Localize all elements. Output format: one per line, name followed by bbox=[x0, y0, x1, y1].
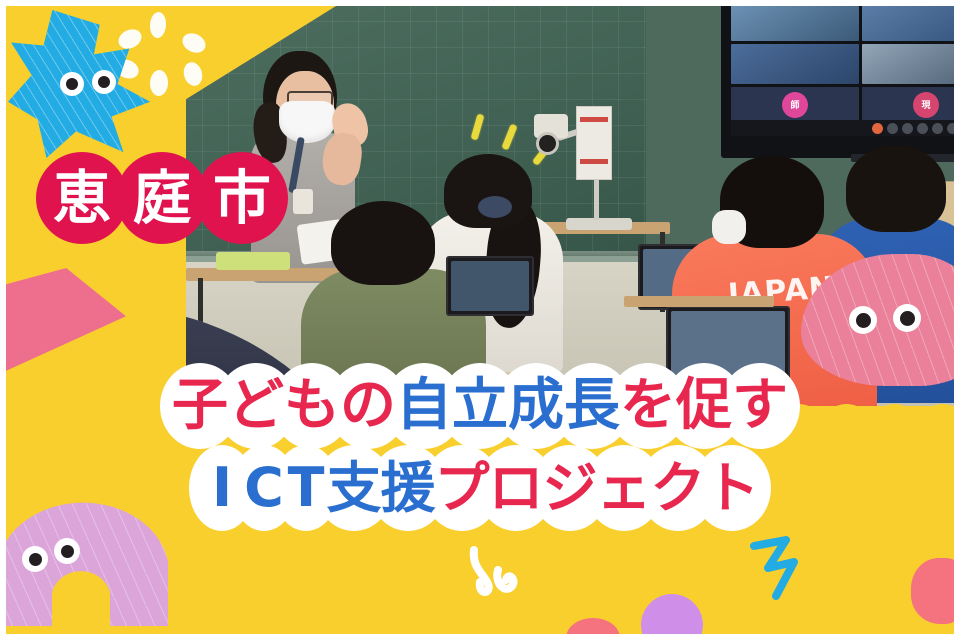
more-options-icon[interactable] bbox=[947, 123, 955, 134]
camera-lens-icon bbox=[536, 132, 559, 155]
white-squiggle-doodle bbox=[468, 546, 542, 602]
headline-char: ク bbox=[646, 446, 710, 530]
camera-icon[interactable] bbox=[887, 123, 898, 134]
eye bbox=[849, 306, 877, 334]
headline-char: す bbox=[727, 364, 793, 448]
avatar: 現 bbox=[913, 92, 939, 118]
video-tile[interactable] bbox=[731, 44, 859, 83]
headline-char: 援 bbox=[376, 446, 440, 530]
chalk-mark bbox=[501, 124, 517, 151]
promo-banner: 師 現 陽 bbox=[0, 0, 960, 640]
headline-char: 自 bbox=[391, 364, 457, 448]
eye bbox=[60, 72, 84, 96]
student-hair bbox=[331, 201, 435, 285]
chat-icon[interactable] bbox=[932, 123, 943, 134]
headline-char: 長 bbox=[559, 364, 625, 448]
headline-char: ど bbox=[223, 364, 289, 448]
headline-char: 支 bbox=[322, 446, 386, 530]
headline-line-1: 子 ど も の 自 立 成 長 を 促 す bbox=[6, 364, 954, 448]
headline-char: 子 bbox=[167, 364, 233, 448]
video-tile[interactable] bbox=[862, 6, 954, 41]
headline-char: C bbox=[238, 446, 290, 530]
avatar: 師 bbox=[782, 92, 808, 118]
face-mask-icon bbox=[712, 210, 746, 244]
headline-char: プ bbox=[430, 446, 494, 530]
city-badge-char: 庭 bbox=[116, 152, 208, 244]
green-tray bbox=[216, 252, 290, 270]
laptop-screen bbox=[446, 256, 534, 316]
headline-char: を bbox=[615, 364, 681, 448]
eye bbox=[54, 538, 80, 564]
city-badge-char: 恵 bbox=[36, 152, 128, 244]
headline-char: の bbox=[335, 364, 401, 448]
eye bbox=[92, 70, 116, 94]
city-name-badge: 恵 庭 市 bbox=[14, 152, 276, 244]
eye bbox=[893, 304, 921, 332]
headline-char: ジ bbox=[538, 446, 602, 530]
eye bbox=[22, 546, 48, 572]
desk bbox=[624, 296, 774, 307]
banner-canvas: 師 現 陽 bbox=[6, 6, 954, 634]
video-conference-display[interactable]: 師 現 陽 bbox=[721, 6, 954, 158]
screen-surface bbox=[451, 261, 529, 311]
blue-zigzag-doodle bbox=[746, 534, 824, 604]
mic-icon[interactable] bbox=[872, 123, 883, 134]
headline-char: ロ bbox=[484, 446, 548, 530]
blue-star-character bbox=[8, 10, 156, 158]
video-call-toolbar[interactable] bbox=[731, 120, 954, 136]
video-tile[interactable] bbox=[862, 44, 954, 83]
headline-char: も bbox=[279, 364, 345, 448]
city-badge-char: 市 bbox=[196, 152, 288, 244]
video-tile[interactable] bbox=[731, 6, 859, 41]
video-conference-grid: 師 現 陽 bbox=[731, 6, 954, 126]
headline-char: ト bbox=[700, 446, 764, 530]
headline-char: 立 bbox=[447, 364, 513, 448]
headline-line-2: I C T 支 援 プ ロ ジ ェ ク ト bbox=[6, 446, 954, 530]
coral-blob-doodle bbox=[911, 558, 954, 624]
face-mask-icon bbox=[279, 101, 335, 143]
share-screen-icon[interactable] bbox=[902, 123, 913, 134]
headline-char: 成 bbox=[503, 364, 569, 448]
headline-char: ェ bbox=[592, 446, 656, 530]
headline: 子 ど も の 自 立 成 長 を 促 す I C T 支 援 プ ロ ジ bbox=[6, 364, 954, 532]
headline-char: 促 bbox=[671, 364, 737, 448]
participants-icon[interactable] bbox=[917, 123, 928, 134]
chalk-mark bbox=[471, 114, 485, 141]
